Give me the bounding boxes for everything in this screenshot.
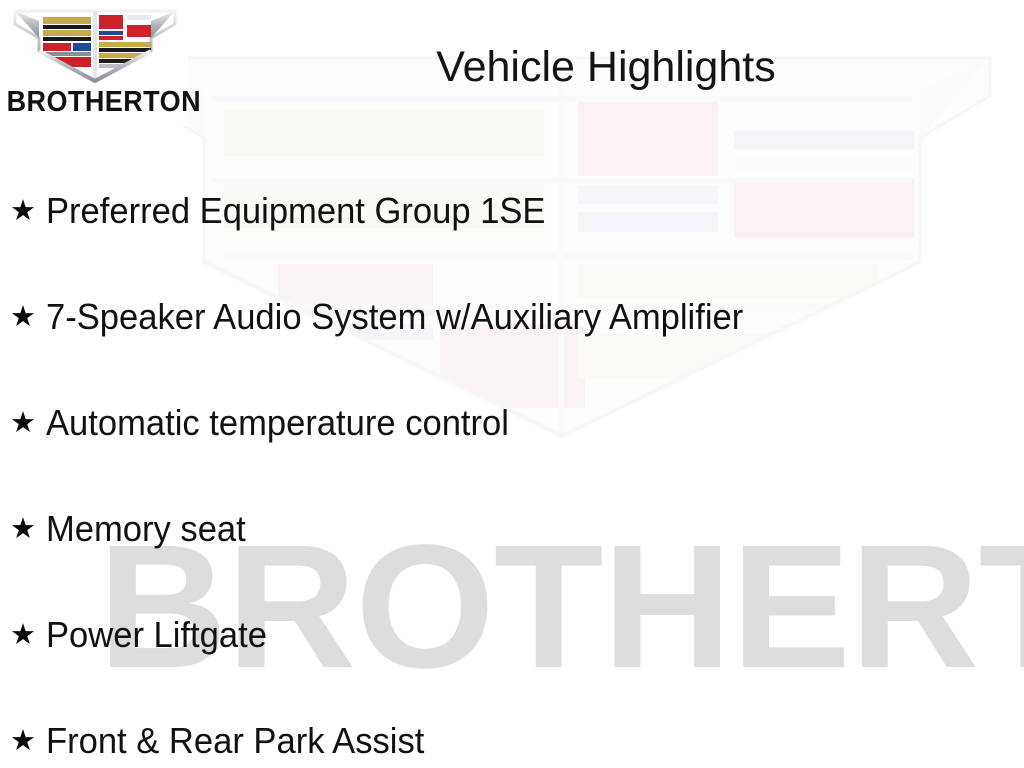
highlight-label: 7-Speaker Audio System w/Auxiliary Ampli… — [46, 296, 743, 338]
list-item: ★ Preferred Equipment Group 1SE — [0, 158, 1024, 264]
highlight-label: Preferred Equipment Group 1SE — [46, 190, 545, 232]
vehicle-highlights-slide: BROTHERTON Vehicle Highlights — [0, 0, 1024, 768]
highlight-label: Automatic temperature control — [46, 402, 509, 444]
page-title: Vehicle Highlights — [188, 42, 1024, 92]
highlight-label: Memory seat — [46, 508, 246, 550]
highlight-label: Front & Rear Park Assist — [46, 720, 424, 762]
list-item: ★ Memory seat — [0, 476, 1024, 582]
star-icon: ★ — [0, 621, 46, 650]
cadillac-crest-icon — [11, 7, 179, 83]
star-icon: ★ — [0, 515, 46, 544]
vehicle-highlights-list: ★ Preferred Equipment Group 1SE ★ 7-Spea… — [0, 158, 1024, 768]
star-icon: ★ — [0, 727, 46, 756]
highlight-label: Power Liftgate — [46, 614, 267, 656]
list-item: ★ Front & Rear Park Assist — [0, 688, 1024, 768]
star-icon: ★ — [0, 303, 46, 332]
list-item: ★ Power Liftgate — [0, 582, 1024, 688]
star-icon: ★ — [0, 409, 46, 438]
list-item: ★ Automatic temperature control — [0, 370, 1024, 476]
list-item: ★ 7-Speaker Audio System w/Auxiliary Amp… — [0, 264, 1024, 370]
star-icon: ★ — [0, 197, 46, 226]
dealer-logo-block: BROTHERTON — [0, 0, 188, 126]
dealer-wordmark: BROTHERTON — [7, 86, 182, 118]
